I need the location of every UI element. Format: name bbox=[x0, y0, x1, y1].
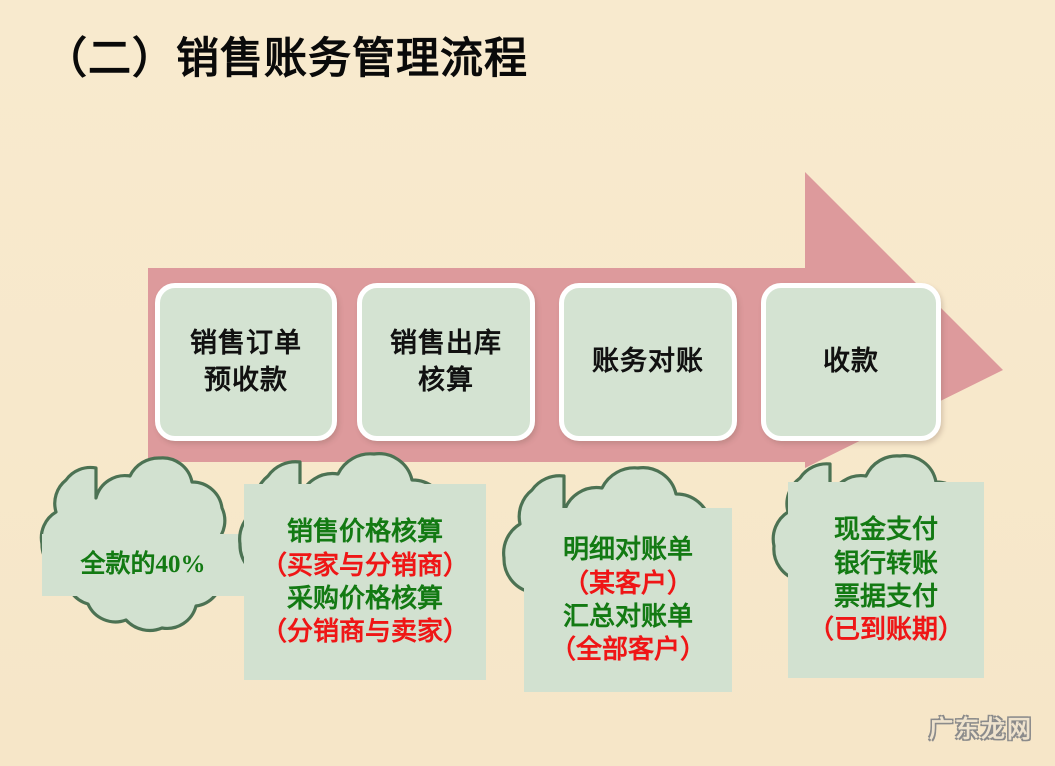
cloud-4-line-3: 票据支付 bbox=[834, 580, 938, 613]
process-step-2[interactable]: 销售出库 核算 bbox=[357, 283, 535, 441]
process-step-3-line-1: 账务对账 bbox=[592, 343, 704, 380]
process-step-2-line-2: 核算 bbox=[418, 362, 474, 399]
cloud-3-line-1: 明细对账单 bbox=[563, 533, 693, 566]
process-step-1-line-2: 预收款 bbox=[204, 362, 288, 399]
watermark-label: 广东龙网 bbox=[929, 709, 1033, 744]
cloud-3-line-3: 汇总对账单 bbox=[563, 600, 693, 633]
cloud-callout-4: 现金支付 银行转账 票据支付 （已到账期） bbox=[764, 450, 1020, 700]
cloud-3-line-2: （某客户） bbox=[563, 567, 693, 600]
process-step-3[interactable]: 账务对账 bbox=[559, 283, 737, 441]
page-title: （二）销售账务管理流程 bbox=[44, 24, 528, 86]
cloud-1-text-panel: 全款的40% bbox=[42, 534, 244, 596]
cloud-2-line-3: 采购价格核算 bbox=[287, 582, 443, 615]
cloud-4-line-1: 现金支付 bbox=[834, 513, 938, 546]
slide-canvas: （二）销售账务管理流程 销售订单 预收款 销售出库 核算 账务对账 收款 全款的… bbox=[0, 0, 1055, 766]
cloud-2-line-4: （分销商与卖家） bbox=[261, 615, 469, 648]
cloud-callout-1: 全款的40% bbox=[34, 452, 252, 680]
process-step-4[interactable]: 收款 bbox=[761, 283, 941, 441]
cloud-2-line-1: 销售价格核算 bbox=[287, 515, 443, 548]
cloud-3-text-panel: 明细对账单 （某客户） 汇总对账单 （全部客户） bbox=[524, 508, 732, 692]
process-step-1-line-1: 销售订单 bbox=[190, 325, 302, 362]
cloud-1-line-1: 全款的40% bbox=[80, 549, 205, 581]
cloud-4-line-2: 银行转账 bbox=[834, 547, 938, 580]
process-step-4-line-1: 收款 bbox=[823, 343, 879, 380]
cloud-3-line-4: （全部客户） bbox=[550, 633, 706, 666]
cloud-callout-2: 销售价格核算 （买家与分销商） 采购价格核算 （分销商与卖家） bbox=[228, 448, 504, 698]
cloud-4-line-4: （已到账期） bbox=[808, 613, 964, 646]
cloud-2-text-panel: 销售价格核算 （买家与分销商） 采购价格核算 （分销商与卖家） bbox=[244, 484, 486, 680]
cloud-2-line-2: （买家与分销商） bbox=[261, 549, 469, 582]
process-step-1[interactable]: 销售订单 预收款 bbox=[155, 283, 337, 441]
cloud-callout-3: 明细对账单 （某客户） 汇总对账单 （全部客户） bbox=[494, 462, 764, 710]
process-step-2-line-1: 销售出库 bbox=[390, 325, 502, 362]
cloud-4-text-panel: 现金支付 银行转账 票据支付 （已到账期） bbox=[788, 482, 984, 678]
